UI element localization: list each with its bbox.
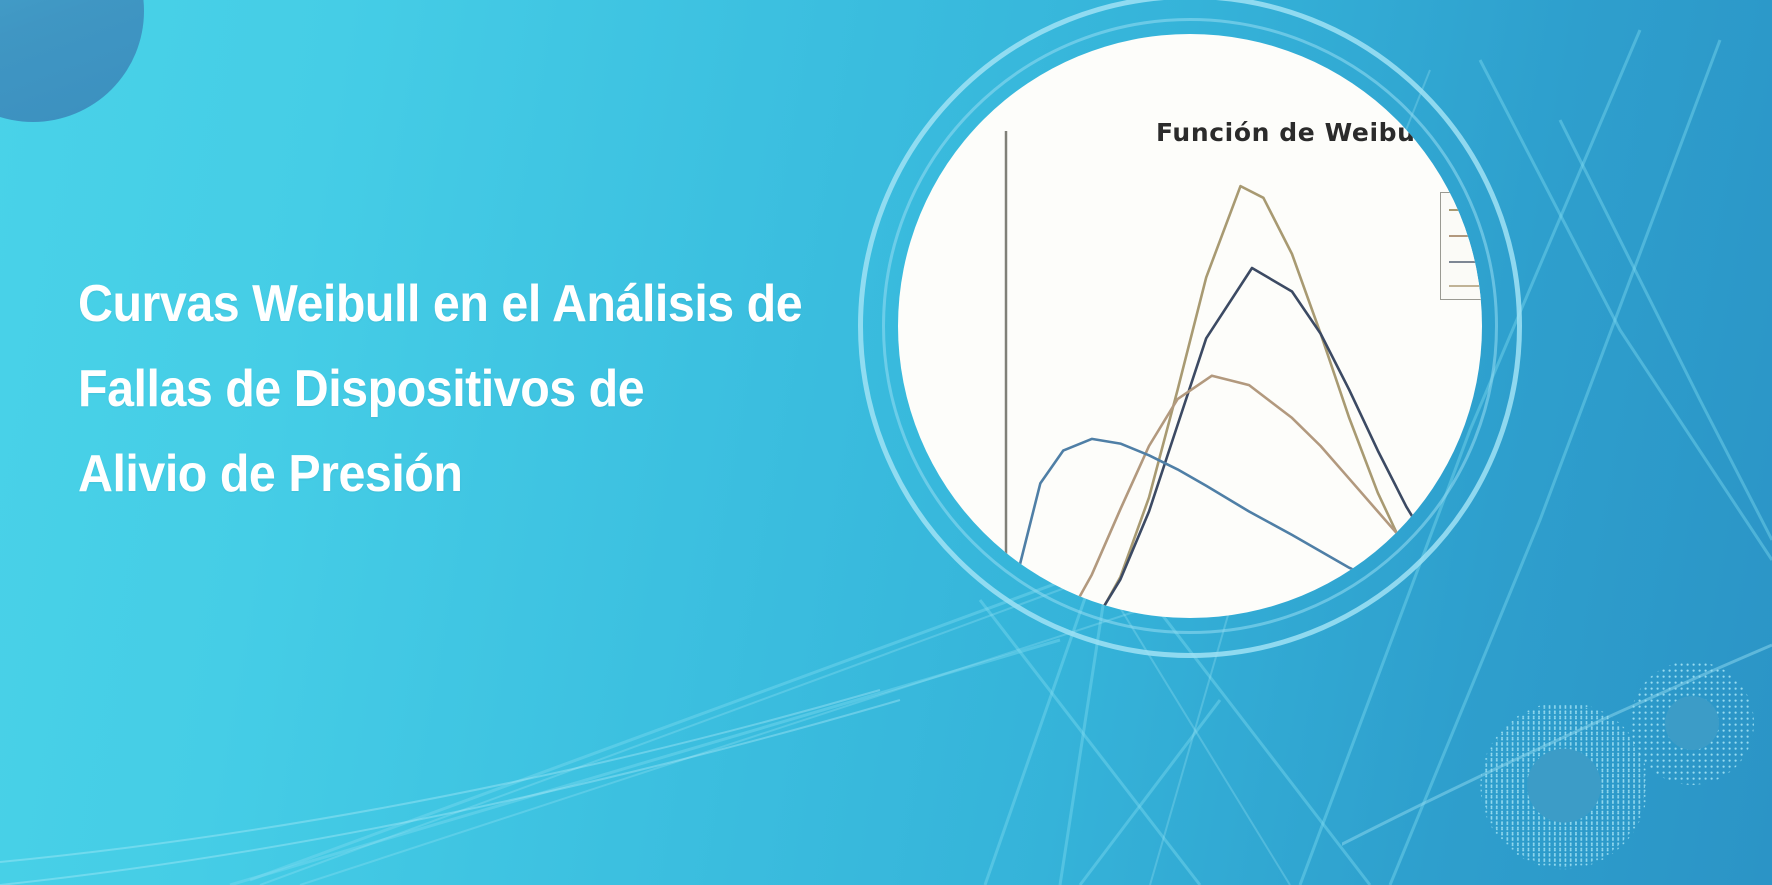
chart-series-curva-2	[1006, 268, 1482, 618]
legend-swatch-1	[1449, 235, 1482, 237]
chart-title: Función de Weibull	[1156, 118, 1434, 147]
medallion-mask: Función de Weibull 5 1 1.5 x	[898, 34, 1482, 618]
weibull-chart: Función de Weibull 5 1 1.5 x	[898, 34, 1482, 618]
chart-series-curva-4	[1006, 439, 1482, 618]
chart-series-curva-3	[1006, 376, 1482, 618]
title-line-3: Alivio de Presión	[78, 432, 813, 517]
page-title: Curvas Weibull en el Análisis de Fallas …	[78, 262, 868, 517]
chart-series-curva-1	[1006, 186, 1482, 618]
legend-swatch-2	[1449, 261, 1482, 263]
title-line-2: Fallas de Dispositivos de	[78, 347, 813, 432]
gear-icon	[1630, 661, 1754, 785]
legend-swatch-0	[1449, 209, 1482, 211]
legend-swatch-3	[1449, 285, 1482, 287]
chart-legend	[1440, 192, 1482, 300]
chart-medallion: Función de Weibull 5 1 1.5 x	[840, 0, 1540, 732]
title-line-1: Curvas Weibull en el Análisis de	[78, 262, 813, 347]
corner-circle-decoration	[0, 0, 144, 122]
weibull-banner: Curvas Weibull en el Análisis de Fallas …	[0, 0, 1772, 885]
